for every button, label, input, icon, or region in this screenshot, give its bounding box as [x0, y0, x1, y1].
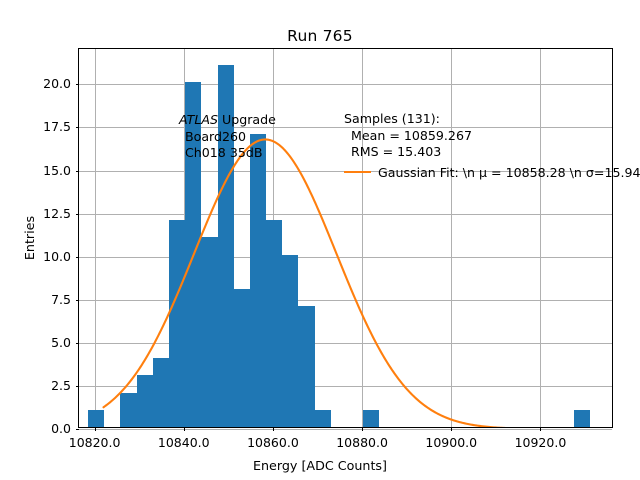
legend-samples-header: Samples (131): [344, 111, 640, 128]
y-tick [76, 84, 80, 85]
y-tick [76, 429, 80, 430]
figure: Run 765 0.02.55.07.510.012.515.017.520.0… [0, 0, 640, 480]
legend-mean: Mean = 10859.267 [344, 128, 640, 145]
plot-axes: 0.02.55.07.510.012.515.017.520.010820.01… [78, 48, 613, 428]
y-tick-label: 15.0 [27, 163, 71, 178]
x-tick-label: 10820.0 [50, 435, 140, 450]
y-tick [76, 343, 80, 344]
y-tick [76, 257, 80, 258]
legend-entry-samples: Samples (131): Mean = 10859.267 RMS = 15… [344, 111, 640, 161]
plot-area [79, 49, 612, 427]
atlas-annotation: ATLAS Upgrade Board260 Ch018 35dB [179, 112, 276, 162]
x-tick [184, 427, 185, 431]
chart-title: Run 765 [0, 27, 640, 45]
x-tick-label: 10840.0 [139, 435, 229, 450]
y-tick-label: 7.5 [27, 292, 71, 307]
x-tick [362, 427, 363, 431]
y-tick [76, 171, 80, 172]
x-tick [95, 427, 96, 431]
gaussian-fit-curve [79, 49, 612, 427]
y-tick [76, 300, 80, 301]
legend-fit-label: Gaussian Fit: \n μ = 10858.28 \n σ=15.94… [378, 165, 640, 180]
y-tick-label: 20.0 [27, 76, 71, 91]
y-tick-label: 5.0 [27, 335, 71, 350]
x-tick-label: 10900.0 [406, 435, 496, 450]
x-tick-label: 10860.0 [228, 435, 318, 450]
annotation-board: Board260 [179, 129, 276, 146]
atlas-label: ATLAS [179, 112, 218, 127]
legend-rms: RMS = 15.403 [344, 144, 640, 161]
annotation-line-1: ATLAS Upgrade [179, 112, 276, 129]
legend: Samples (131): Mean = 10859.267 RMS = 15… [344, 111, 640, 181]
legend-line-swatch [344, 171, 371, 173]
y-tick [76, 386, 80, 387]
y-tick-label: 17.5 [27, 119, 71, 134]
y-tick [76, 214, 80, 215]
annotation-channel: Ch018 35dB [179, 145, 276, 162]
y-axis-label: Entries [22, 216, 37, 260]
gridline-horizontal [79, 429, 612, 430]
x-tick [540, 427, 541, 431]
x-tick [451, 427, 452, 431]
x-axis-label: Energy [ADC Counts] [0, 458, 640, 473]
legend-entry-fit: Gaussian Fit: \n μ = 10858.28 \n σ=15.94… [344, 165, 640, 182]
upgrade-label: Upgrade [218, 112, 276, 127]
y-tick [76, 127, 80, 128]
x-tick-label: 10880.0 [317, 435, 407, 450]
y-tick-label: 2.5 [27, 378, 71, 393]
y-tick-label: 0.0 [27, 421, 71, 436]
x-tick [273, 427, 274, 431]
x-tick-label: 10920.0 [495, 435, 585, 450]
